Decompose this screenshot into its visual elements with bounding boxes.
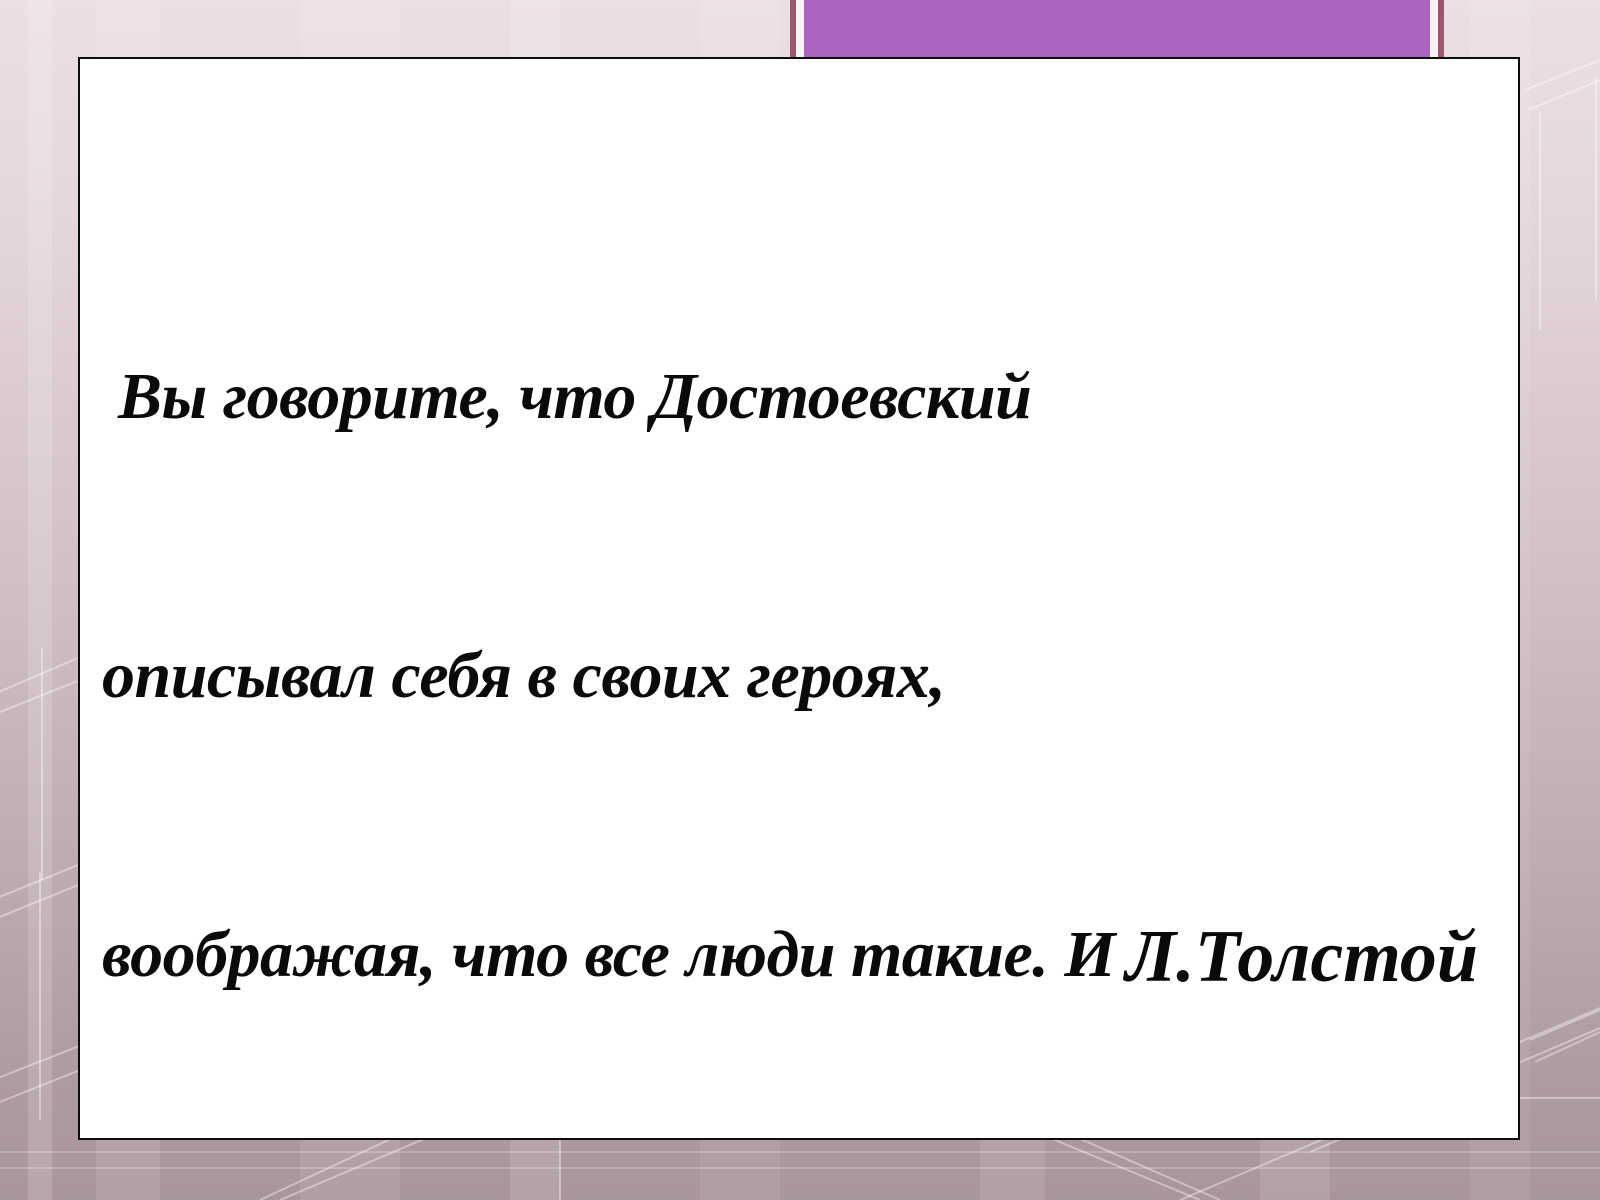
quote-line: Вы говорите, что Достоевский	[102, 350, 1502, 443]
content-card: Вы говорите, что Достоевский описывал се…	[78, 57, 1520, 1140]
quote-text-block: Вы говорите, что Достоевский описывал се…	[102, 164, 1502, 1200]
quote-line: что же! Результат тот, что даже в	[102, 1187, 1502, 1200]
slide-canvas: Вы говорите, что Достоевский описывал се…	[0, 0, 1600, 1200]
quote-line: описывал себя в своих героях,	[102, 629, 1502, 722]
quote-attribution: Л.Толстой	[1125, 914, 1478, 1000]
